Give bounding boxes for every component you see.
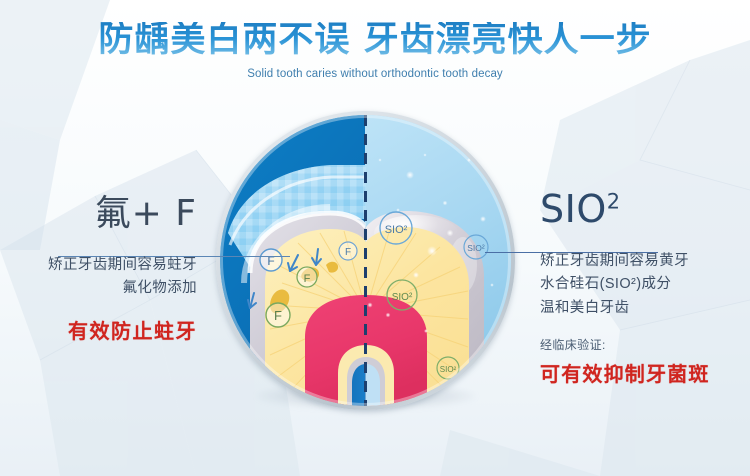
left-panel-line-1: 矫正牙齿期间容易蛀牙 [0,254,197,277]
right-panel-emphasis: 可有效抑制牙菌斑 [540,358,750,387]
left-panel-body: 矫正牙齿期间容易蛀牙 氟化物添加 [0,254,215,301]
svg-text:SIO²: SIO² [467,243,485,253]
circle-inner-content: F F F [220,115,511,406]
page-title: 防龋美白两不误 牙齿漂亮快人一步 [0,22,750,59]
left-panel-emphasis: 有效防止蛀牙 [0,315,215,344]
svg-text:SIO²: SIO² [392,292,413,303]
svg-text:SIO²: SIO² [385,224,408,236]
svg-text:F: F [304,273,311,285]
right-panel-line-2: 水合硅石(SIO²)成分 [540,273,750,296]
left-panel-heading: 氟+ F [0,196,215,232]
right-panel-heading-sup: 2 [607,189,621,213]
left-panel-line-2: 氟化物添加 [0,277,197,300]
tooth-cross-section-svg: F F F [220,115,511,406]
right-panel-line-3: 温和美白牙齿 [540,297,750,320]
right-panel-line-1: 矫正牙齿期间容易黄牙 [540,250,750,273]
tooth-illustration: F F F [216,111,515,410]
right-panel-body: 矫正牙齿期间容易黄牙 水合硅石(SIO²)成分 温和美白牙齿 [540,250,750,320]
poster-canvas: 防龋美白两不误 牙齿漂亮快人一步 Solid tooth caries with… [0,0,750,476]
right-panel: SIO2 矫正牙齿期间容易黄牙 水合硅石(SIO²)成分 温和美白牙齿 经临床验… [540,190,750,387]
right-panel-note: 经临床验证: [540,336,750,353]
left-panel: 氟+ F 矫正牙齿期间容易蛀牙 氟化物添加 有效防止蛀牙 [0,196,215,344]
right-panel-heading: SIO2 [540,190,750,228]
svg-text:F: F [274,308,282,323]
page-subtitle: Solid tooth caries without orthodontic t… [0,68,750,80]
svg-text:F: F [345,247,351,258]
right-panel-heading-main: SIO [540,187,607,231]
